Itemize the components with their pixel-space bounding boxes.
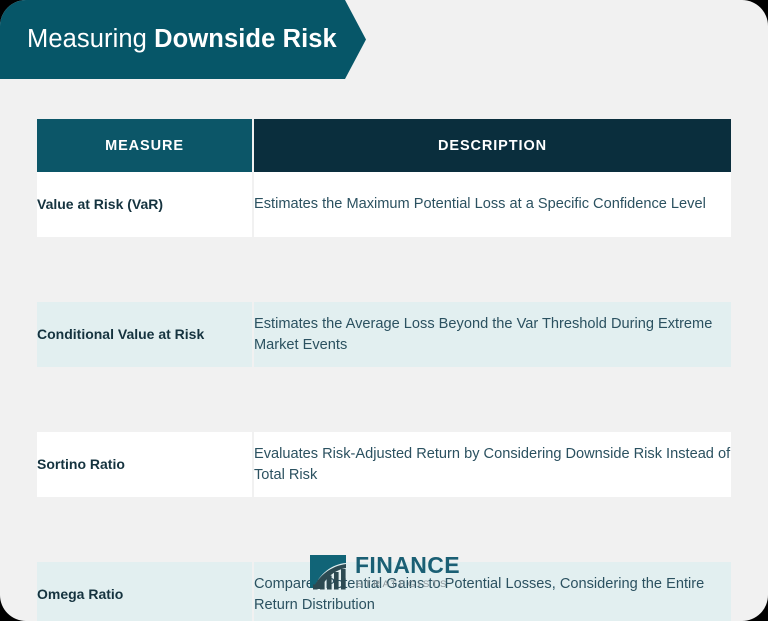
- cell-measure: Sortino Ratio: [37, 432, 253, 497]
- finance-strategists-chart-arc-icon: [308, 552, 348, 592]
- column-header-description: DESCRIPTION: [253, 119, 731, 172]
- brand-logo-wordmark: FINANCE STRATEGISTS: [355, 554, 460, 590]
- table-header-row: MEASURE DESCRIPTION: [37, 119, 731, 172]
- table-header: MEASURE DESCRIPTION: [37, 119, 731, 172]
- brand-name-secondary: STRATEGISTS: [355, 580, 460, 590]
- cell-description: Estimates the Maximum Potential Loss at …: [253, 172, 731, 237]
- infographic-card: Measuring Downside Risk MEASURE DESCRIPT…: [0, 0, 768, 621]
- downside-risk-measures-table: MEASURE DESCRIPTION Value at Risk (VaR) …: [37, 119, 731, 621]
- page-title: Measuring Downside Risk: [0, 27, 337, 53]
- column-header-measure: MEASURE: [37, 119, 253, 172]
- table-row: Conditional Value at Risk Estimates the …: [37, 302, 731, 367]
- page-title-bold: Downside Risk: [154, 25, 337, 53]
- cell-description: Evaluates Risk-Adjusted Return by Consid…: [253, 432, 731, 497]
- row-divider: [37, 367, 731, 432]
- cell-description: Estimates the Average Loss Beyond the Va…: [253, 302, 731, 367]
- cell-measure: Value at Risk (VaR): [37, 172, 253, 237]
- header-banner: Measuring Downside Risk: [0, 0, 366, 79]
- brand-logo: FINANCE STRATEGISTS: [0, 552, 768, 592]
- row-divider: [37, 237, 731, 302]
- brand-logo-inner: FINANCE STRATEGISTS: [308, 552, 460, 592]
- table-row: Value at Risk (VaR) Estimates the Maximu…: [37, 172, 731, 237]
- table-row: Sortino Ratio Evaluates Risk-Adjusted Re…: [37, 432, 731, 497]
- page-title-light: Measuring: [27, 25, 154, 53]
- cell-measure: Conditional Value at Risk: [37, 302, 253, 367]
- brand-name-primary: FINANCE: [355, 554, 460, 577]
